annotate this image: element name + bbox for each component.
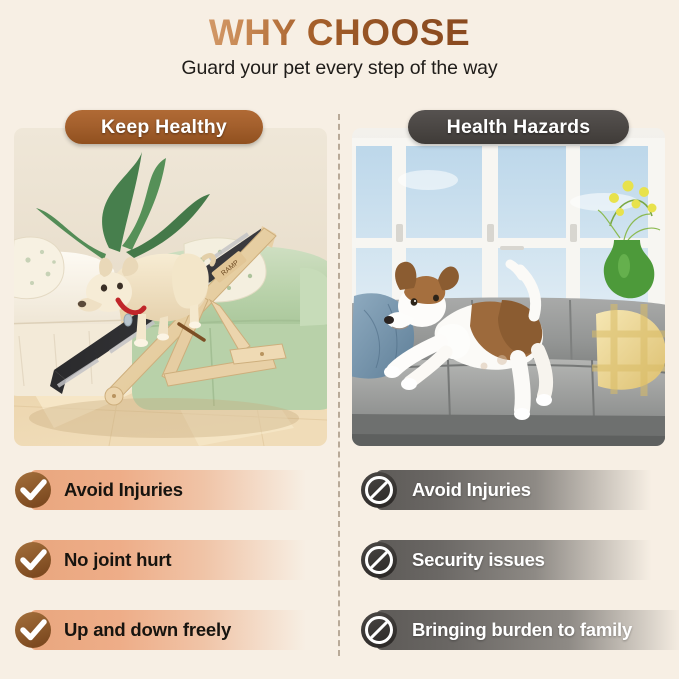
- check-circle-icon: [14, 611, 52, 649]
- hazard-label: Security issues: [412, 549, 545, 571]
- list-item: Avoid Injuries: [360, 466, 679, 514]
- check-circle-icon: [14, 471, 52, 509]
- vertical-dashed-divider: [338, 114, 340, 656]
- benefit-label: Avoid Injuries: [64, 479, 183, 501]
- badge-health-hazards: Health Hazards: [408, 110, 629, 144]
- dog-jumping-sofa-illustration: [352, 128, 665, 446]
- hazard-label: Bringing burden to family: [412, 619, 632, 641]
- list-item: No joint hurt: [14, 536, 334, 584]
- prohibited-icon: [360, 541, 398, 579]
- image-health-hazards: [352, 128, 665, 446]
- prohibited-icon: [360, 611, 398, 649]
- benefit-label: No joint hurt: [64, 549, 171, 571]
- hazard-label: Avoid Injuries: [412, 479, 531, 501]
- list-item: Avoid Injuries: [14, 466, 334, 514]
- hazards-list: Avoid Injuries Security issues Bringing …: [360, 466, 679, 676]
- prohibited-icon: [360, 471, 398, 509]
- benefit-label: Up and down freely: [64, 619, 231, 641]
- header: WHY CHOOSE Guard your pet every step of …: [0, 0, 679, 96]
- list-item: Up and down freely: [14, 606, 334, 654]
- check-circle-icon: [14, 541, 52, 579]
- image-keep-healthy: RAMP: [14, 128, 327, 446]
- list-item: Bringing burden to family: [360, 606, 679, 654]
- living-room-ramp-illustration: RAMP: [14, 128, 327, 446]
- list-item: Security issues: [360, 536, 679, 584]
- badge-keep-healthy: Keep Healthy: [65, 110, 263, 144]
- benefits-list: Avoid Injuries No joint hurt Up and down…: [14, 466, 334, 676]
- badge-left-label: Keep Healthy: [101, 116, 227, 139]
- badge-right-label: Health Hazards: [447, 116, 591, 139]
- page-subtitle: Guard your pet every step of the way: [0, 57, 679, 80]
- page-title: WHY CHOOSE: [209, 0, 470, 51]
